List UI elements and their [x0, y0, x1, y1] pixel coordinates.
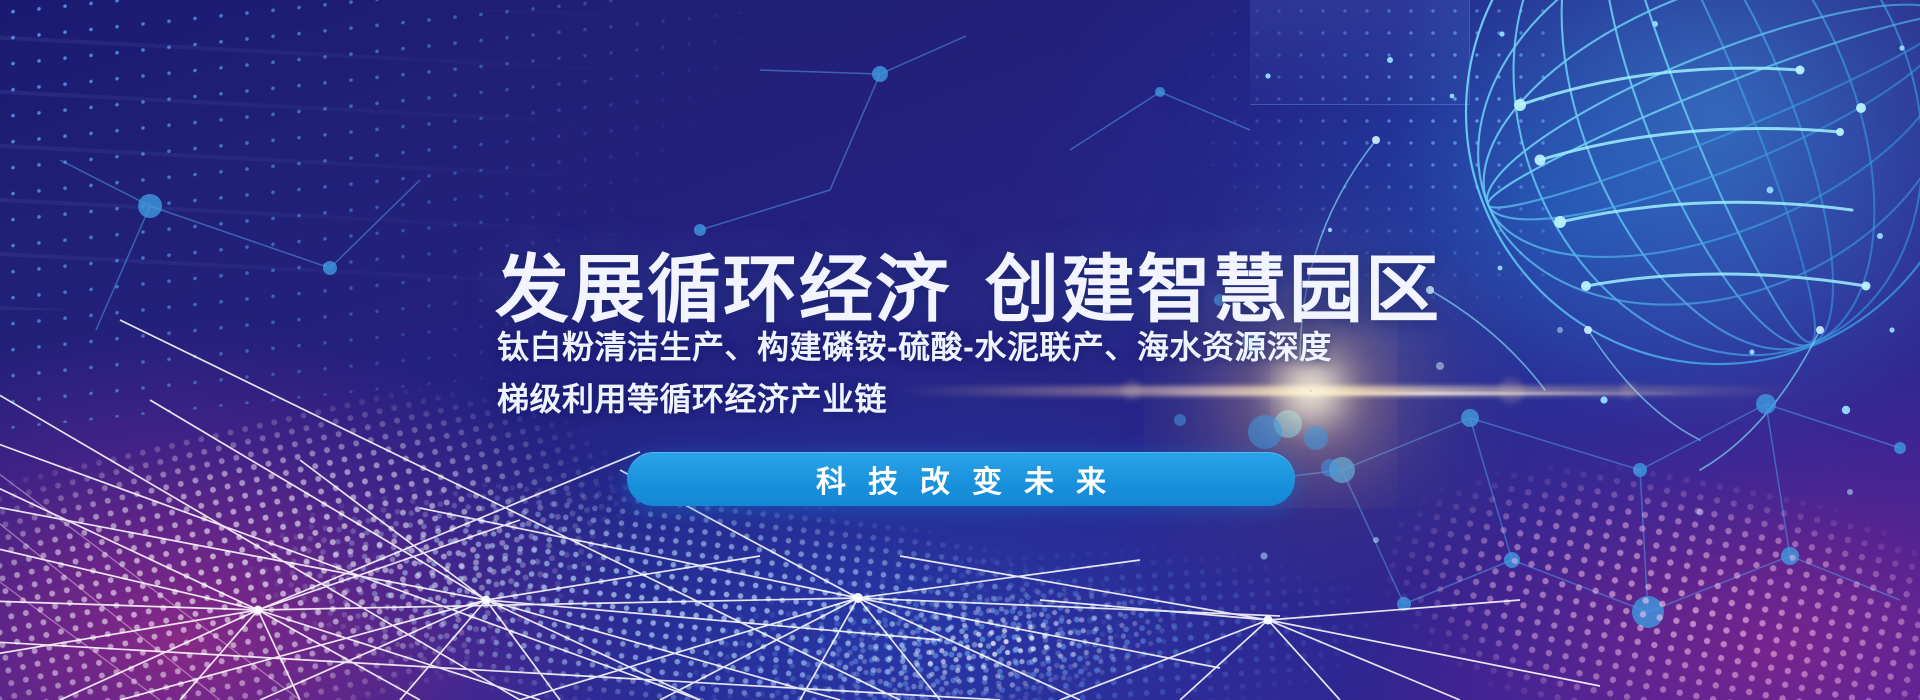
cta-button[interactable]: 科技改变未来 [627, 452, 1295, 506]
page-title-part1: 发展循环经济 [495, 248, 951, 331]
hero-banner: 发展循环经济创建智慧园区 钛白粉清洁生产、构建磷铵-硫酸-水泥联产、海水资源深度… [0, 0, 1920, 700]
page-title: 发展循环经济创建智慧园区 [495, 253, 1441, 327]
banner-content: 发展循环经济创建智慧园区 钛白粉清洁生产、构建磷铵-硫酸-水泥联产、海水资源深度… [0, 0, 1920, 700]
subtitle-line-1: 钛白粉清洁生产、构建磷铵-硫酸-水泥联产、海水资源深度 [497, 322, 1457, 374]
subtitle-line-2: 梯级利用等循环经济产业链 [497, 374, 1457, 426]
page-subtitle: 钛白粉清洁生产、构建磷铵-硫酸-水泥联产、海水资源深度 梯级利用等循环经济产业链 [497, 322, 1457, 426]
page-title-part2: 创建智慧园区 [985, 248, 1441, 331]
